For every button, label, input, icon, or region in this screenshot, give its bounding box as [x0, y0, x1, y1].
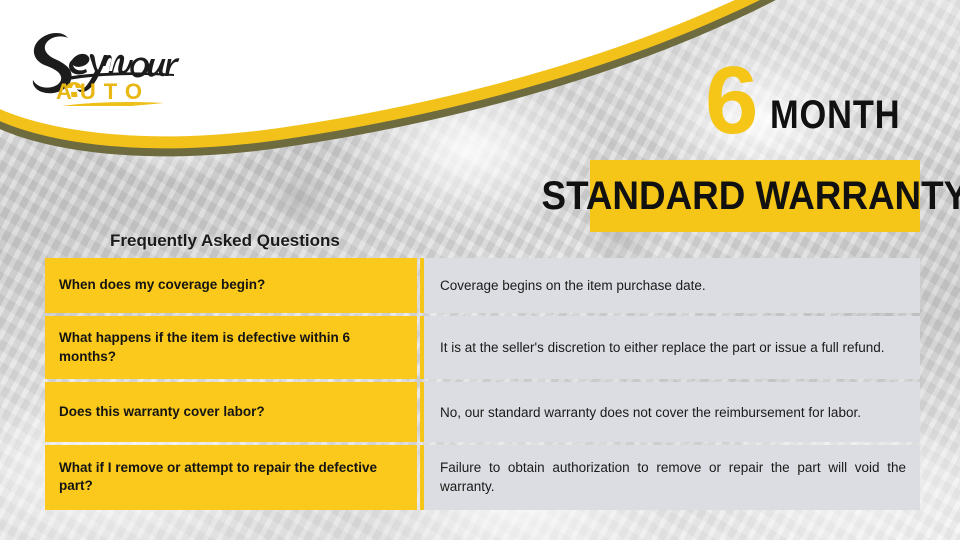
standard-warranty-banner: STANDARD WARRANTY: [590, 160, 920, 232]
table-row: What if I remove or attempt to repair th…: [45, 445, 920, 509]
warranty-period-label: MONTH: [770, 95, 900, 141]
faq-table: When does my coverage begin? Coverage be…: [45, 258, 920, 510]
table-row: What happens if the item is defective wi…: [45, 316, 920, 379]
faq-answer: No, our standard warranty does not cover…: [420, 382, 920, 442]
table-row: Does this warranty cover labor? No, our …: [45, 382, 920, 442]
brand-logo[interactable]: AUTO: [14, 14, 194, 106]
warranty-duration-group: 6 MONTH: [705, 62, 922, 141]
faq-answer: Coverage begins on the item purchase dat…: [420, 258, 920, 313]
faq-question: Does this warranty cover labor?: [45, 382, 417, 442]
faq-answer: Failure to obtain authorization to remov…: [420, 445, 920, 509]
svg-text:AUTO: AUTO: [56, 79, 150, 104]
faq-heading: Frequently Asked Questions: [110, 231, 340, 251]
faq-question: When does my coverage begin?: [45, 258, 417, 313]
table-row: When does my coverage begin? Coverage be…: [45, 258, 920, 313]
faq-question: What happens if the item is defective wi…: [45, 316, 417, 379]
slide-canvas: AUTO 6 MONTH STANDARD WARRANTY Frequentl…: [0, 0, 960, 540]
standard-warranty-label: STANDARD WARRANTY: [542, 174, 960, 219]
faq-question: What if I remove or attempt to repair th…: [45, 445, 417, 509]
seymour-auto-logo-icon: AUTO: [14, 14, 194, 106]
warranty-number: 6: [705, 62, 756, 141]
faq-answer: It is at the seller's discretion to eith…: [420, 316, 920, 379]
